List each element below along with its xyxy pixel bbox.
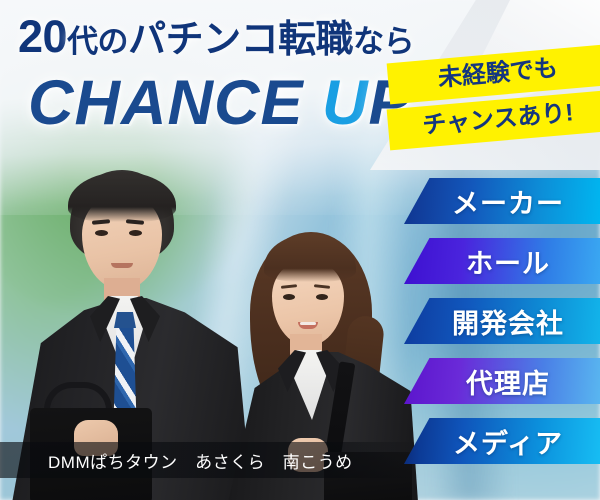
category-button-development[interactable]: 開発会社	[404, 298, 600, 344]
headline-part1: 代の	[67, 24, 128, 59]
male-mouth	[111, 263, 133, 268]
caption-bar: DMMぱちタウン あさくら 南こうめ	[0, 442, 420, 478]
logo-highlight-letter: U	[322, 68, 369, 138]
male-eye-left	[95, 230, 108, 236]
female-eye-right	[316, 294, 328, 300]
male-necktie-knot	[114, 312, 136, 328]
chance-up-logo: CHANCE UP	[28, 72, 412, 135]
female-fringe	[264, 234, 356, 282]
female-eye-left	[283, 294, 295, 300]
logo-text-before: CHANCE	[28, 68, 322, 138]
category-label-agency: 代理店	[454, 362, 550, 401]
page-title: 20代のパチンコ転職なら	[18, 14, 414, 59]
headline-part2: パチンコ転職	[128, 19, 353, 61]
category-button-maker[interactable]: メーカー	[404, 178, 600, 224]
female-teeth	[300, 322, 316, 325]
category-button-agency[interactable]: 代理店	[404, 358, 600, 404]
recruitment-banner: 20代のパチンコ転職なら CHANCE UP 未経験でも チャンスあり! メーカ…	[0, 0, 600, 500]
category-button-hall[interactable]: ホール	[404, 238, 600, 284]
male-eye-right	[129, 230, 142, 236]
category-label-media: メディア	[441, 422, 563, 461]
headline-number: 20	[18, 11, 67, 62]
male-fringe	[68, 172, 176, 222]
category-label-hall: ホール	[454, 242, 550, 281]
status-badge: 未経験でも チャンスあり!	[388, 54, 600, 141]
category-button-list: メーカー ホール 開発会社 代理店 メディア	[404, 178, 600, 478]
caption-text: DMMぱちタウン あさくら 南こうめ	[0, 448, 353, 473]
category-button-media[interactable]: メディア	[404, 418, 600, 464]
category-label-maker: メーカー	[440, 182, 564, 221]
category-label-development: 開発会社	[440, 302, 564, 341]
